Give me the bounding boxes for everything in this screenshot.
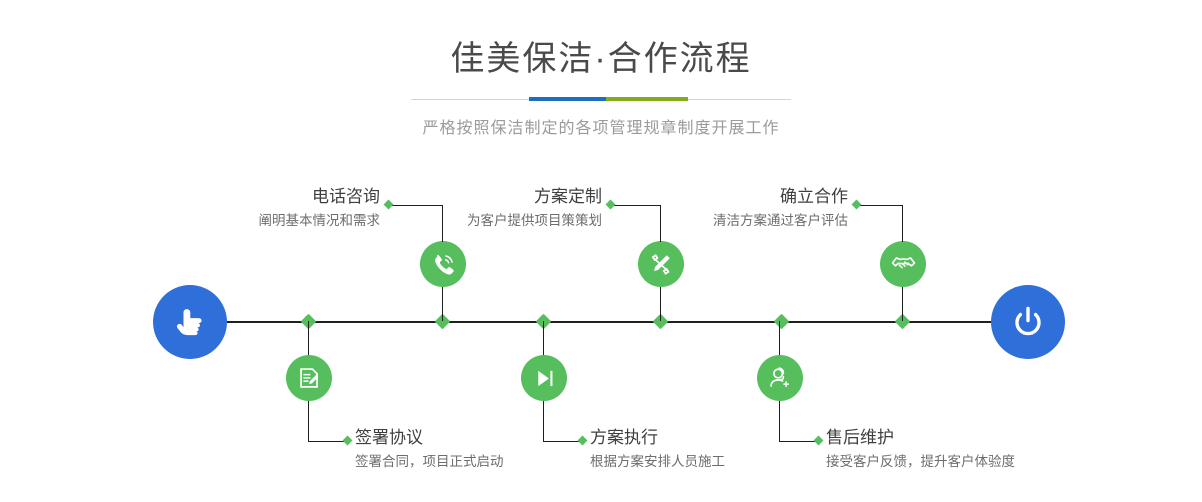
connector-elbow [779,441,817,442]
step-title: 方案执行 [590,427,725,450]
connector-dot [814,436,824,446]
phone-call-icon [430,251,457,278]
step-title: 电话咨询 [150,186,380,209]
timeline-axis [158,321,1046,323]
step-desc: 阐明基本情况和需求 [150,209,380,231]
connector-stem [308,401,309,441]
step-label-2: 签署协议 签署合同，项目正式启动 [355,427,504,472]
header: 佳美保洁·合作流程 严格按照保洁制定的各项管理规章制度开展工作 [0,0,1202,138]
divider-segment-blue [529,97,606,101]
connector-stem [902,205,903,242]
step-desc: 为客户提供项目策策划 [390,209,602,231]
connector-elbow [857,205,902,206]
connector-stem [442,287,443,321]
step-node-5[interactable] [757,355,803,401]
step-desc: 清洁方案通过客户评估 [640,209,848,231]
step-title: 确立合作 [640,186,848,209]
step-node-2[interactable] [286,355,332,401]
step-title: 方案定制 [390,186,602,209]
title-divider [411,95,791,105]
step-node-1[interactable] [420,241,466,287]
pencil-design-icon [648,251,674,277]
step-desc: 签署合同，项目正式启动 [355,450,504,472]
connector-stem [660,287,661,321]
step-label-1: 电话咨询 阐明基本情况和需求 [150,186,380,231]
connector-elbow [308,441,346,442]
step-label-6: 确立合作 清洁方案通过客户评估 [640,186,848,231]
power-icon [1008,302,1048,342]
customer-support-icon [767,365,793,391]
step-label-4: 方案执行 根据方案安排人员施工 [590,427,725,472]
step-node-3[interactable] [638,241,684,287]
step-label-3: 方案定制 为客户提供项目策策划 [390,186,602,231]
step-label-5: 售后维护 接受客户反馈，提升客户体验度 [826,427,1015,472]
timeline-end-node[interactable] [991,285,1065,359]
play-execute-icon [532,366,557,391]
page-title: 佳美保洁·合作流程 [0,0,1202,81]
connector-dot [578,436,588,446]
step-title: 售后维护 [826,427,1015,450]
handshake-icon [890,251,917,278]
connector-stem [779,321,780,355]
timeline-start-node[interactable] [153,285,227,359]
step-desc: 接受客户反馈，提升客户体验度 [826,450,1015,472]
connector-elbow [543,441,581,442]
connector-dot [343,436,353,446]
step-node-4[interactable] [521,355,567,401]
connector-dot [852,200,862,210]
step-title: 签署协议 [355,427,504,450]
pointing-hand-icon [170,302,210,342]
page-subtitle: 严格按照保洁制定的各项管理规章制度开展工作 [0,105,1202,138]
axis-marker [774,314,790,330]
connector-stem [902,287,903,321]
connector-dot [606,200,616,210]
connector-stem [779,401,780,441]
connector-stem [543,401,544,441]
step-desc: 根据方案安排人员施工 [590,450,725,472]
connector-stem [543,321,544,355]
step-node-6[interactable] [880,241,926,287]
connector-stem [308,321,309,355]
document-sign-icon [296,365,322,391]
divider-segment-green [606,97,688,101]
flowchart-canvas: 佳美保洁·合作流程 严格按照保洁制定的各项管理规章制度开展工作 [0,0,1202,502]
